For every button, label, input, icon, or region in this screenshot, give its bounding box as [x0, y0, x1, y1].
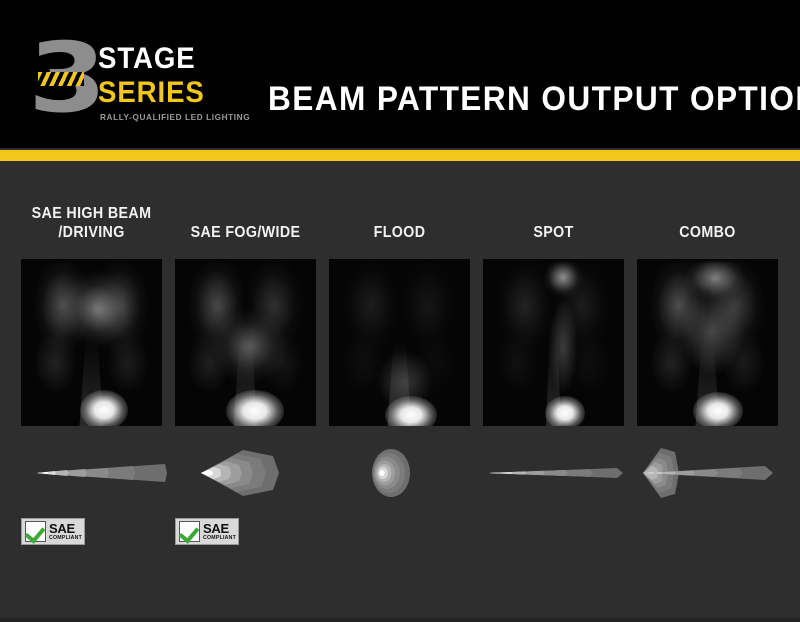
beam-photo-combo [637, 259, 778, 426]
badge-secondary-text: COMPLIANT [203, 536, 236, 541]
beam-hotspot [226, 390, 284, 426]
page-title: BEAM PATTERN OUTPUT OPTIONS [268, 80, 800, 119]
beam-diagram-combo [631, 442, 784, 504]
logo-word-stage: STAGE [98, 44, 236, 74]
beam-label: SAE FOG/WIDE [173, 170, 317, 242]
beam-photo-sae-high-beam-driving [21, 259, 162, 426]
sae-compliant-badge: SAE COMPLIANT [175, 518, 239, 545]
beam-hotspot [545, 396, 585, 426]
beam-pattern-grid: SAE HIGH BEAM /DRIVING [0, 170, 800, 570]
beam-photo-flood [329, 259, 470, 426]
beam-glow [539, 262, 587, 416]
header-banner: 3 STAGE SERIES RALLY-QUALIFIED LED LIGHT… [0, 0, 800, 148]
beam-hotspot [80, 390, 128, 426]
logo-tagline: RALLY-QUALIFIED LED LIGHTING [100, 112, 250, 122]
beam-diagram-sae-fog-wide [169, 442, 322, 504]
logo-stripes-icon [38, 72, 84, 86]
beam-pattern-infographic: { "header": { "logo": { "numeral": "3", … [0, 0, 800, 622]
beam-label: COMBO [635, 170, 779, 242]
brand-logo: 3 STAGE SERIES RALLY-QUALIFIED LED LIGHT… [28, 28, 243, 128]
beam-diagram-flood [323, 442, 476, 504]
accent-rule [0, 150, 800, 161]
check-icon [25, 521, 46, 542]
beam-label: FLOOD [327, 170, 471, 242]
beam-diagram-spot [477, 442, 630, 504]
check-icon [179, 521, 200, 542]
sae-compliant-badge: SAE COMPLIANT [21, 518, 85, 545]
logo-wordmark: STAGE SERIES [98, 44, 248, 108]
footer-strip [0, 618, 800, 622]
beam-diagram-sae-high-beam-driving [15, 442, 168, 504]
beam-label: SPOT [481, 170, 625, 242]
badge-primary-text: SAE [203, 522, 236, 535]
beam-hotspot [693, 392, 743, 426]
badge-secondary-text: COMPLIANT [49, 536, 82, 541]
beam-photo-spot [483, 259, 624, 426]
beam-label: SAE HIGH BEAM /DRIVING [19, 170, 163, 242]
beam-photo-sae-fog-wide [175, 259, 316, 426]
badge-primary-text: SAE [49, 522, 82, 535]
logo-word-series: SERIES [98, 78, 236, 108]
